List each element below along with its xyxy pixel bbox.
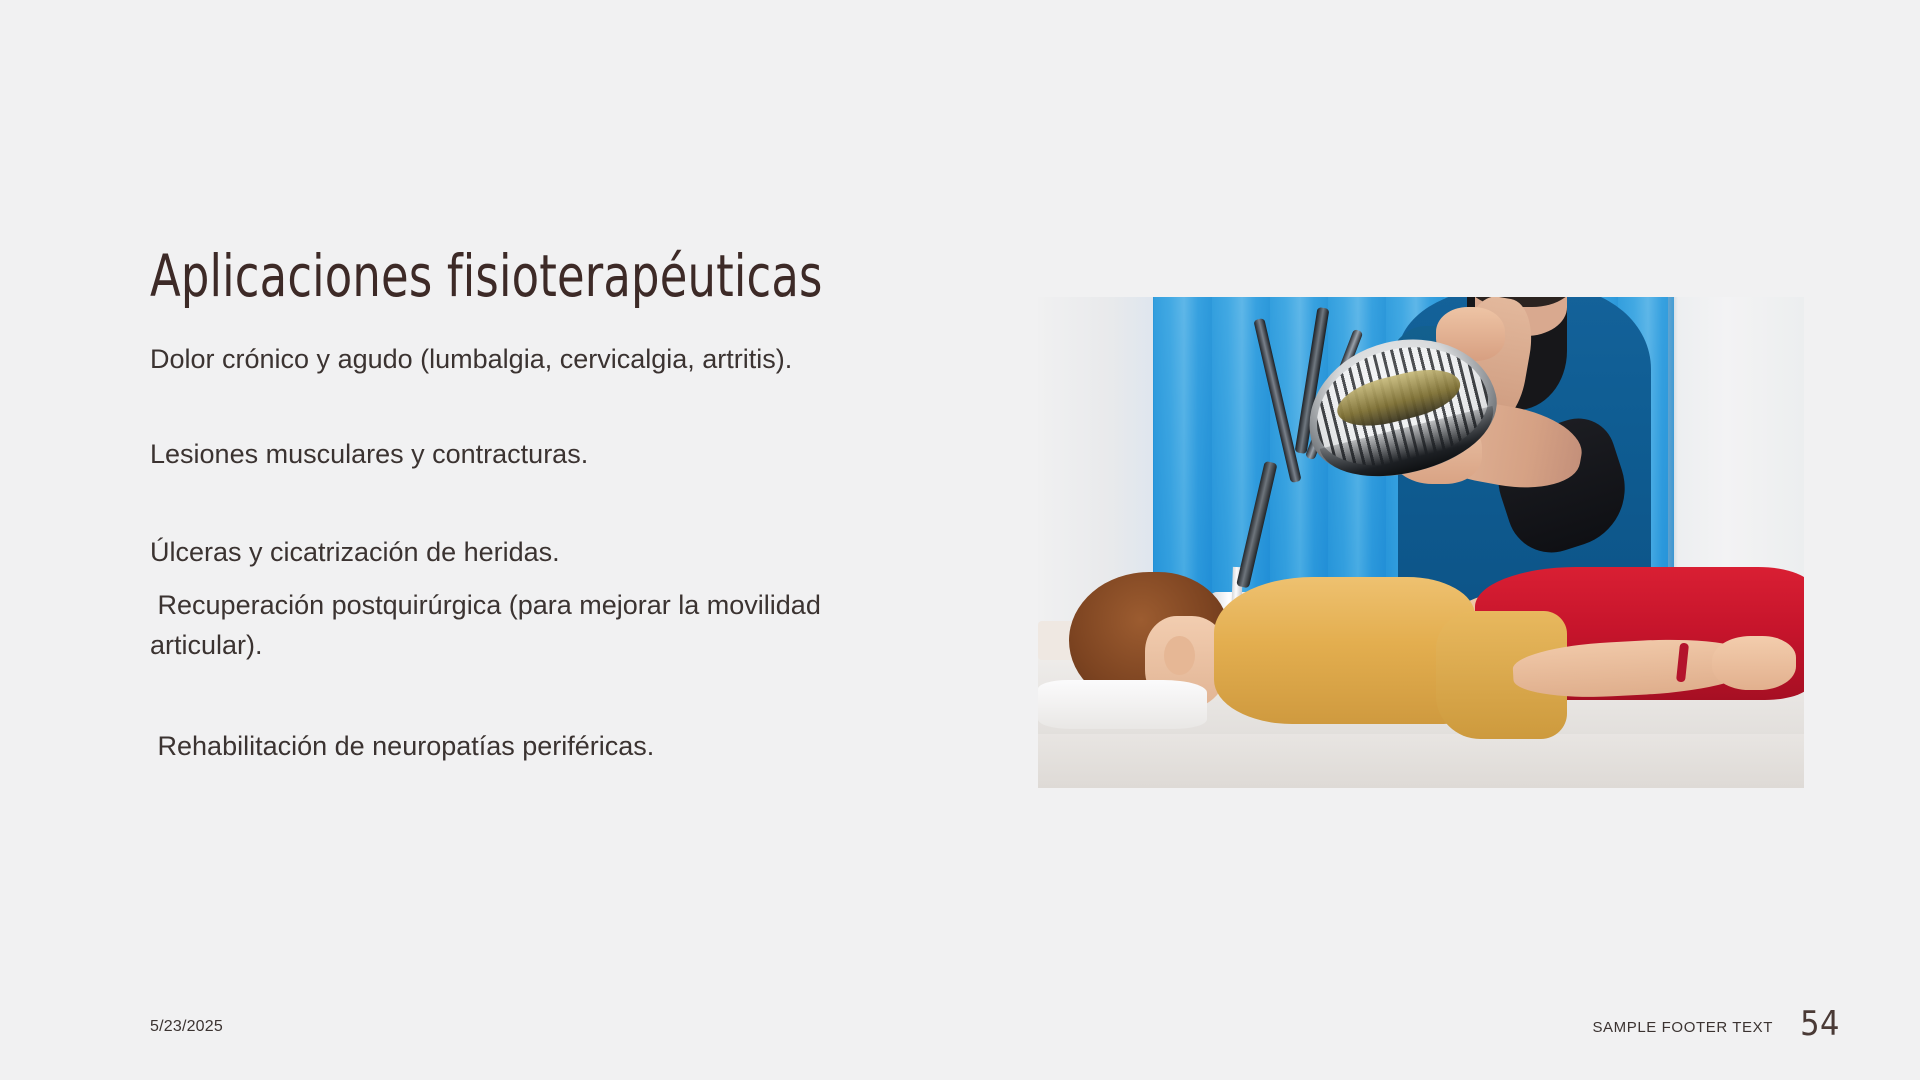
body-content: Dolor crónico y agudo (lumbalgia, cervic… [150, 340, 850, 766]
photo-patient-hand [1712, 636, 1796, 690]
photo-white-towel [1038, 680, 1207, 729]
body-paragraph-2: Lesiones musculares y contracturas. [150, 435, 850, 474]
body-paragraph-1: Dolor crónico y agudo (lumbalgia, cervic… [150, 340, 850, 379]
therapy-photo [1038, 297, 1804, 788]
photo-patient-ear [1164, 636, 1195, 675]
body-paragraph-4: Recuperación postquirúrgica (para mejora… [150, 586, 850, 665]
photo-table-front [1038, 734, 1804, 788]
footer-date: 5/23/2025 [150, 1018, 223, 1036]
slide-number: 54 [1800, 1004, 1840, 1044]
slide: Aplicaciones fisioterapéuticas Dolor cró… [0, 0, 1920, 1080]
page-title: Aplicaciones fisioterapéuticas [150, 245, 1096, 308]
footer-text: SAMPLE FOOTER TEXT [1592, 1019, 1773, 1036]
body-paragraph-5: Rehabilitación de neuropatías periférica… [150, 727, 850, 766]
body-paragraph-3: Úlceras y cicatrización de heridas. [150, 533, 850, 572]
